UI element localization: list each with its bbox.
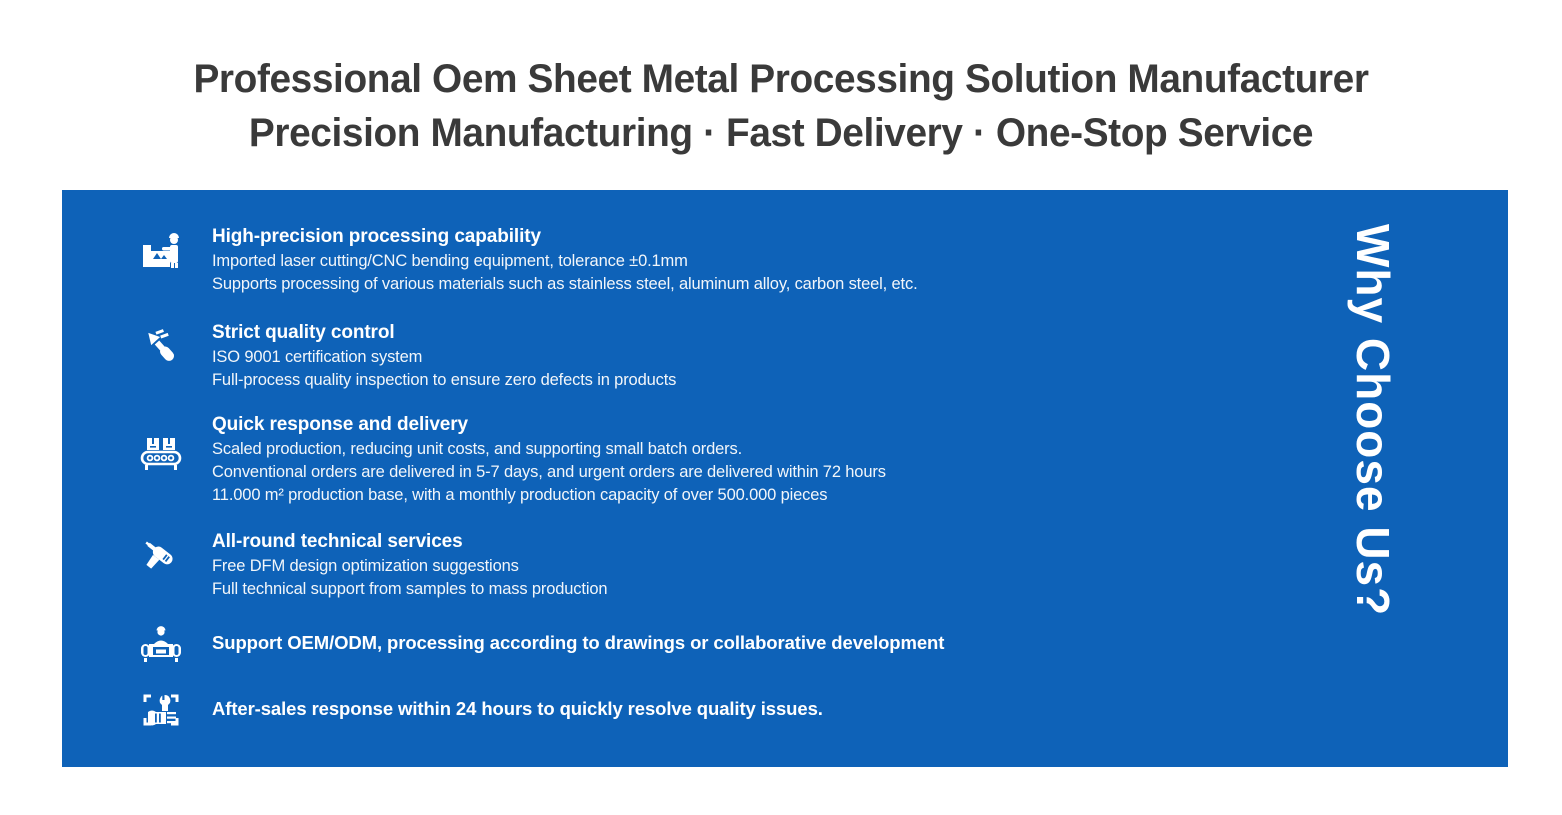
conveyor-belt-icon (134, 426, 188, 480)
feature-item-quality-control: Strict quality control ISO 9001 certific… (62, 318, 676, 392)
why-choose-us-panel: High-precision processing capability Imp… (62, 190, 1508, 767)
feature-detail-line: Scaled production, reducing unit costs, … (212, 438, 886, 461)
headline-line-1: Professional Oem Sheet Metal Processing … (23, 52, 1538, 106)
feature-detail-line: Full-process quality inspection to ensur… (212, 369, 676, 392)
page-title: Professional Oem Sheet Metal Processing … (0, 52, 1562, 160)
feature-title: Strict quality control (212, 320, 676, 346)
feature-body: All-round technical services Free DFM de… (212, 527, 607, 601)
headline-line-2: Precision Manufacturing · Fast Delivery … (23, 106, 1538, 160)
feature-detail-line: Full technical support from samples to m… (212, 578, 607, 601)
inspection-tool-icon (134, 320, 188, 374)
feature-body: Strict quality control ISO 9001 certific… (212, 318, 676, 392)
feature-body: After-sales response within 24 hours to … (212, 684, 823, 722)
feature-item-after-sales: After-sales response within 24 hours to … (62, 684, 823, 738)
feature-title: High-precision processing capability (212, 224, 918, 250)
vertical-heading-text: Why Choose Us? (1346, 224, 1400, 616)
feature-detail-line: 11.000 m² production base, with a monthl… (212, 484, 886, 507)
factory-worker-icon (134, 224, 188, 278)
feature-detail-line: Supports processing of various materials… (212, 273, 918, 296)
feature-title: Quick response and delivery (212, 412, 886, 438)
feature-body: Support OEM/ODM, processing according to… (212, 618, 944, 656)
feature-title: Support OEM/ODM, processing according to… (212, 630, 944, 656)
wrench-support-icon (134, 684, 188, 738)
banner-page: Professional Oem Sheet Metal Processing … (0, 0, 1562, 815)
feature-detail-line: ISO 9001 certification system (212, 346, 676, 369)
feature-body: Quick response and delivery Scaled produ… (212, 410, 886, 507)
feature-detail-line: Free DFM design optimization suggestions (212, 555, 607, 578)
feature-item-technical-services: All-round technical services Free DFM de… (62, 527, 607, 601)
feature-title: All-round technical services (212, 529, 607, 555)
feature-title: After-sales response within 24 hours to … (212, 696, 823, 722)
feature-item-quick-delivery: Quick response and delivery Scaled produ… (62, 410, 886, 507)
feature-detail-line: Conventional orders are delivered in 5-7… (212, 461, 886, 484)
blueprint-worker-icon (134, 618, 188, 672)
feature-item-oem-odm: Support OEM/ODM, processing according to… (62, 618, 944, 672)
feature-item-high-precision: High-precision processing capability Imp… (62, 222, 918, 296)
feature-body: High-precision processing capability Imp… (212, 222, 918, 296)
power-drill-icon (134, 529, 188, 583)
feature-detail-line: Imported laser cutting/CNC bending equip… (212, 250, 918, 273)
